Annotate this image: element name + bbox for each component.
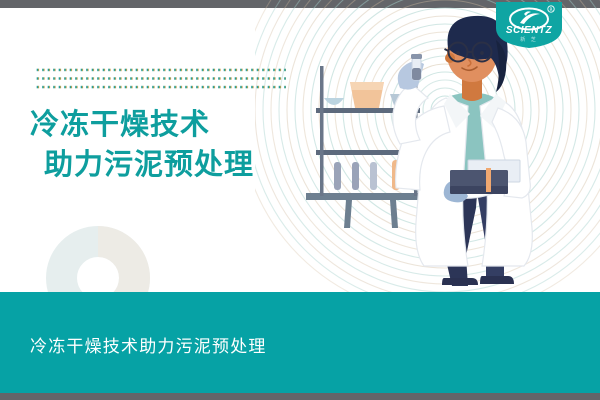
slide-canvas: 冷冻干燥技术 助力污泥预处理 冷冻干燥技术助力污泥预处理 R SCIENTZ 新… (0, 0, 600, 400)
logo-subtext: 新 芝 (496, 36, 562, 43)
viewer-bottom-bar (0, 393, 600, 400)
scientist-with-vial-illustration (300, 10, 600, 300)
dot-gradient-pattern (36, 68, 286, 95)
scientz-shield-logo[interactable]: R SCIENTZ 新 芝 (496, 2, 562, 48)
title-line-1: 冷冻干燥技术 (30, 104, 330, 144)
title-line-2: 助力污泥预处理 (30, 144, 330, 184)
page-title: 冷冻干燥技术 助力污泥预处理 (30, 104, 330, 184)
logo-wordmark: SCIENTZ (496, 25, 562, 36)
footer-caption: 冷冻干燥技术助力污泥预处理 (30, 332, 267, 357)
svg-text:R: R (549, 7, 552, 13)
lab-scientist-figure (393, 16, 533, 286)
